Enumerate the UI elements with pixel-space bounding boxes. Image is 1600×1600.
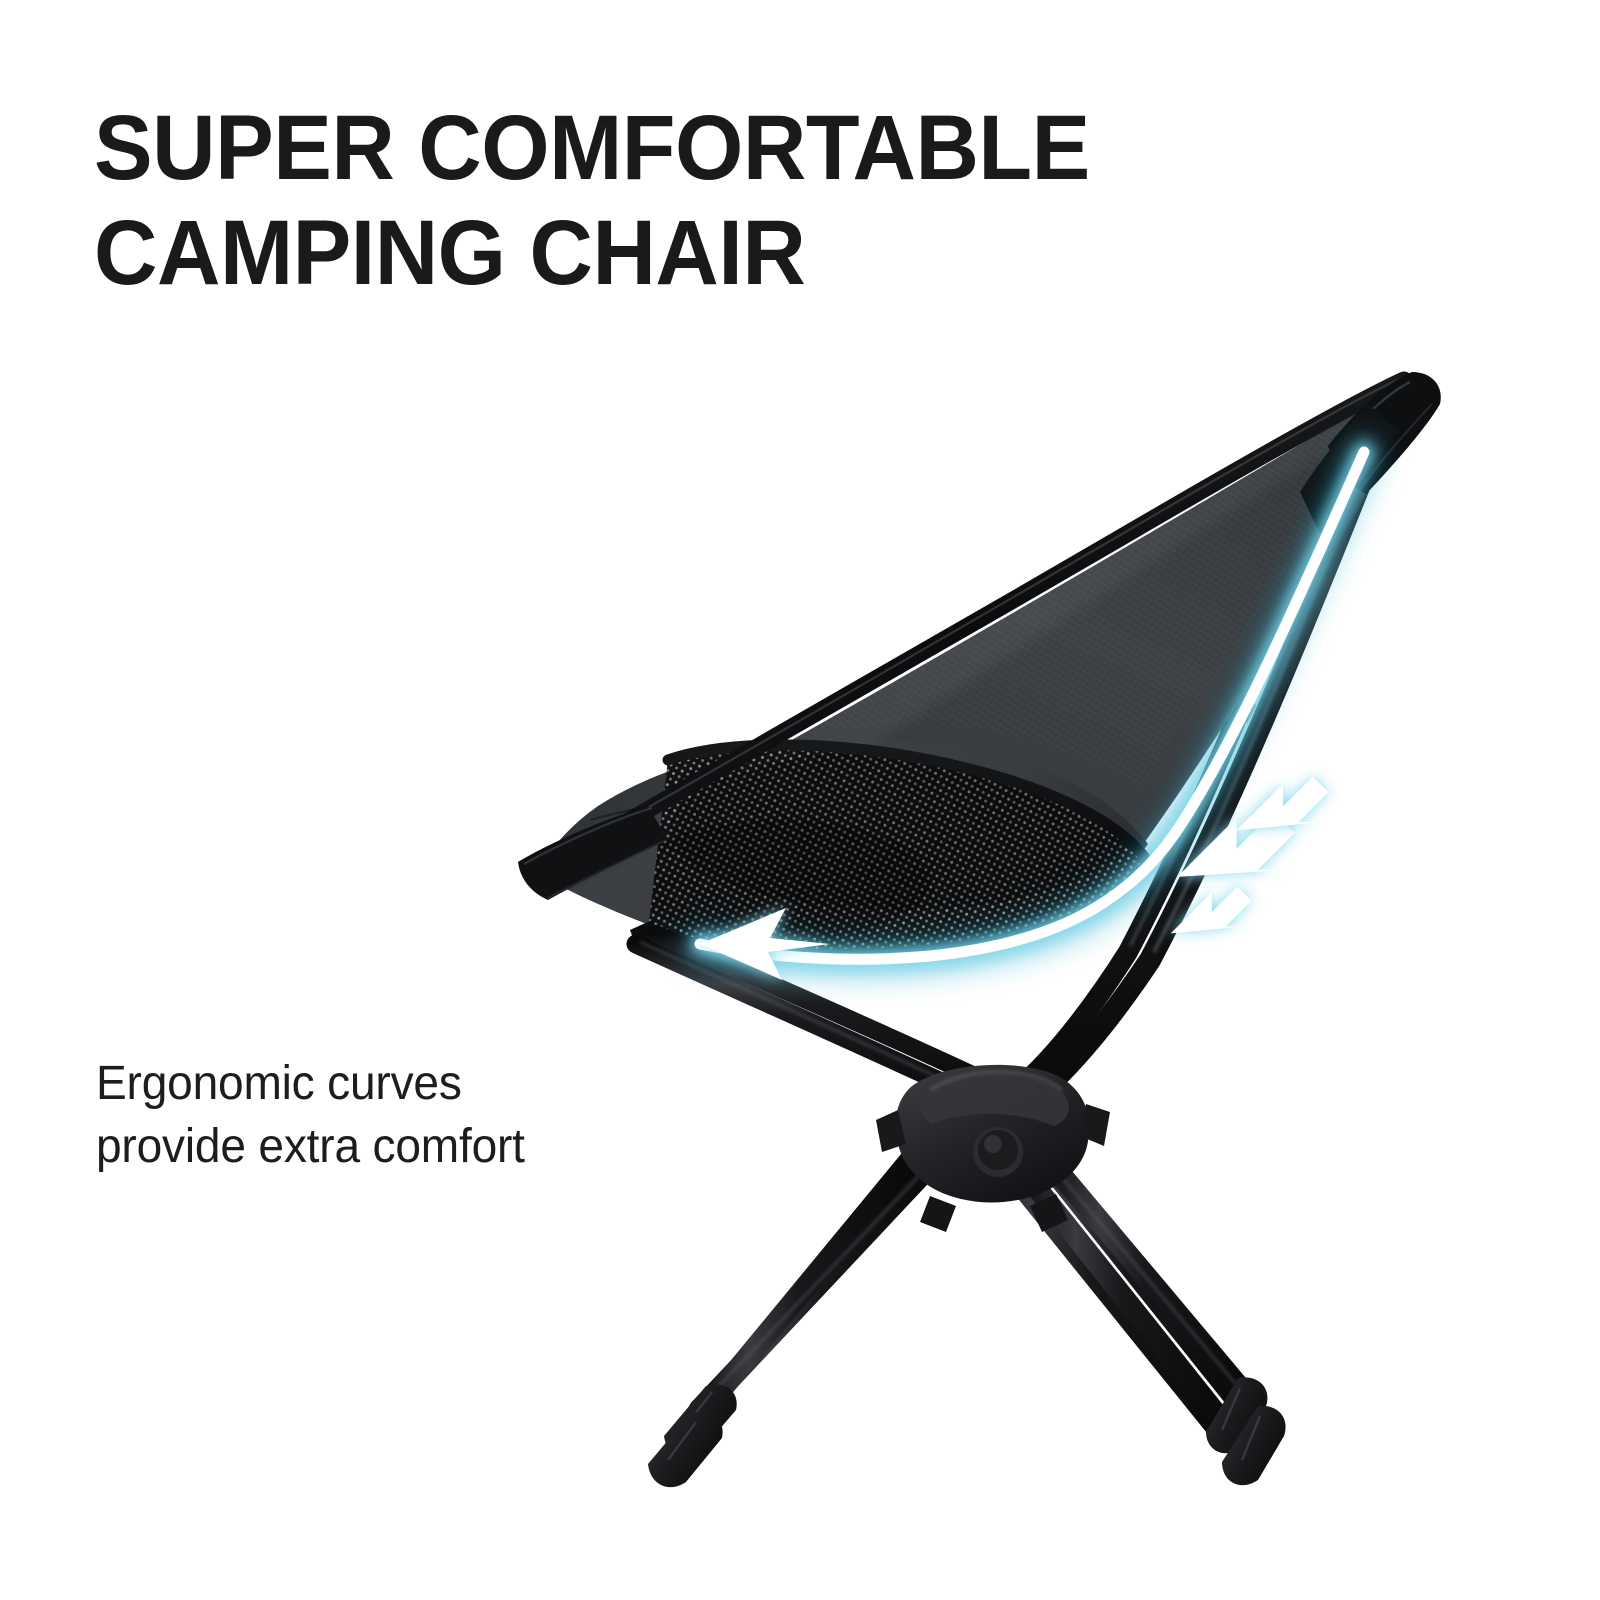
product-illustration [0,0,1600,1600]
foot-front-left-b [648,1411,723,1487]
product-marketing-canvas: SUPER COMFORTABLE CAMPING CHAIR Ergonomi… [0,0,1600,1600]
